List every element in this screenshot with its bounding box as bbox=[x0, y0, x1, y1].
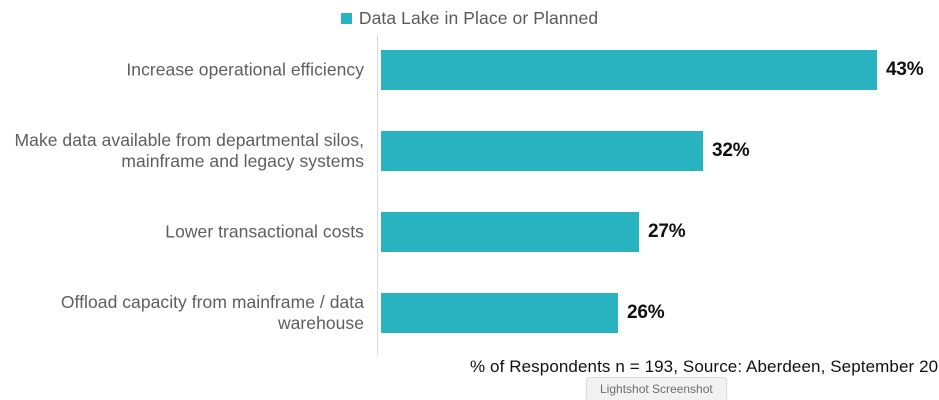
bar-value-label: 32% bbox=[712, 140, 749, 162]
chart-row: Make data available from departmental si… bbox=[0, 131, 939, 171]
category-label: Lower transactional costs bbox=[4, 222, 364, 243]
category-label: Make data available from departmental si… bbox=[4, 130, 364, 172]
bar-group: 26% bbox=[381, 293, 664, 333]
bar bbox=[381, 293, 618, 333]
lightshot-badge: Lightshot Screenshot bbox=[586, 377, 727, 400]
bar-value-label: 43% bbox=[886, 59, 923, 81]
bar bbox=[381, 131, 703, 171]
bar-group: 27% bbox=[381, 212, 685, 252]
category-label: Increase operational efficiency bbox=[4, 60, 364, 81]
bar bbox=[381, 50, 877, 90]
chart-row: Increase operational efficiency 43% bbox=[0, 50, 939, 90]
chart-row: Lower transactional costs 27% bbox=[0, 212, 939, 252]
legend-swatch-icon bbox=[341, 13, 352, 24]
chart-legend: Data Lake in Place or Planned bbox=[0, 8, 939, 29]
legend-label: Data Lake in Place or Planned bbox=[359, 8, 598, 29]
chart-footnote: % of Respondents n = 193, Source: Aberde… bbox=[470, 357, 939, 377]
bar bbox=[381, 212, 639, 252]
bar-group: 32% bbox=[381, 131, 749, 171]
bar-group: 43% bbox=[381, 50, 923, 90]
chart-row: Offload capacity from mainframe / data w… bbox=[0, 293, 939, 333]
category-label: Offload capacity from mainframe / data w… bbox=[4, 292, 364, 334]
bar-value-label: 26% bbox=[627, 302, 664, 324]
bar-chart: Data Lake in Place or Planned Increase o… bbox=[0, 0, 939, 400]
plot-area: Increase operational efficiency 43% Make… bbox=[0, 35, 939, 355]
bar-value-label: 27% bbox=[648, 221, 685, 243]
